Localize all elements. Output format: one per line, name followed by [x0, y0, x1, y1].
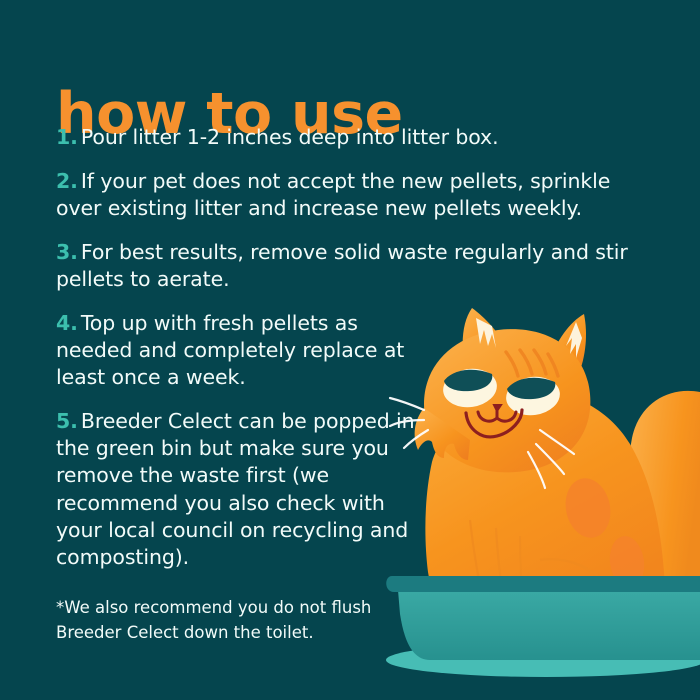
poster-canvas: how to use 1.Pour litter 1-2 inches deep…: [0, 0, 700, 700]
step-text: For best results, remove solid waste reg…: [56, 240, 628, 291]
step-number: 5.: [56, 409, 78, 433]
step-number: 4.: [56, 311, 78, 335]
list-item: 4.Top up with fresh pellets as needed an…: [56, 310, 416, 391]
step-text: Breeder Celect can be popped in the gree…: [56, 409, 415, 568]
footnote-disclaimer: *We also recommend you do not flush Bree…: [56, 595, 396, 646]
step-text: Top up with fresh pellets as needed and …: [56, 311, 404, 389]
step-text: If your pet does not accept the new pell…: [56, 169, 610, 220]
list-item: 1.Pour litter 1-2 inches deep into litte…: [56, 124, 652, 151]
list-item: 5.Breeder Celect can be popped in the gr…: [56, 408, 436, 570]
step-text: Pour litter 1-2 inches deep into litter …: [81, 125, 499, 149]
how-to-use-step-list: 1.Pour litter 1-2 inches deep into litte…: [56, 124, 652, 588]
list-item: 3.For best results, remove solid waste r…: [56, 239, 652, 293]
list-item: 2.If your pet does not accept the new pe…: [56, 168, 652, 222]
step-number: 2.: [56, 169, 78, 193]
step-number: 1.: [56, 125, 78, 149]
step-number: 3.: [56, 240, 78, 264]
